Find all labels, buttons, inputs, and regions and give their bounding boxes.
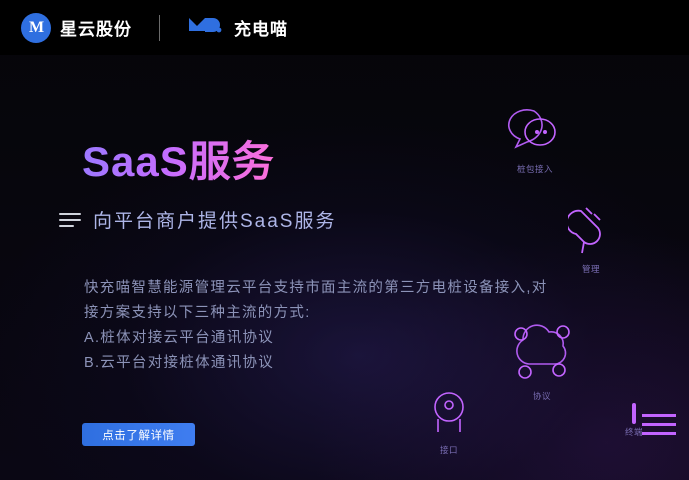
page-title: SaaS服务: [82, 128, 275, 189]
page-root: M 星云股份 充电喵 SaaS服务 向平台商户提供SaaS服务 快充喵智慧能源管…: [0, 0, 689, 480]
device-box-icon: [605, 405, 663, 423]
node-caption: 桩包接入: [497, 163, 573, 175]
brand-divider: [159, 15, 160, 41]
company-logo-icon: M: [21, 13, 51, 43]
top-bar: M 星云股份 充电喵: [0, 0, 689, 55]
node-caption: 管理: [558, 263, 624, 275]
chat-bubbles-icon: [497, 103, 573, 160]
hamburger-menu-icon[interactable]: [59, 213, 81, 227]
power-plug-icon: [558, 205, 624, 260]
company-name-label: 星云股份: [60, 15, 132, 40]
brand-right[interactable]: 充电喵: [186, 12, 288, 43]
socket-icon: [420, 390, 478, 441]
subtitle-row: 向平台商户提供SaaS服务: [59, 206, 336, 233]
body-line: 快充喵智慧能源管理云平台支持市面主流的第三方电桩设备接入,对: [84, 276, 584, 301]
learn-more-button[interactable]: 点击了解详情: [82, 423, 195, 446]
node-caption: 协议: [502, 390, 582, 402]
cloud-circuit-icon: [502, 320, 582, 387]
node-plug: 管理: [558, 205, 624, 275]
node-device: 终端: [605, 405, 663, 438]
node-caption: 终端: [605, 426, 663, 438]
product-name-label: 充电喵: [234, 15, 288, 40]
brand-left[interactable]: M 星云股份: [21, 13, 132, 43]
node-cloud: 协议: [502, 320, 582, 402]
product-logo-icon: [186, 12, 224, 43]
node-socket: 接口: [420, 390, 478, 456]
node-caption: 接口: [420, 444, 478, 456]
node-chat: 桩包接入: [497, 103, 573, 175]
page-subtitle: 向平台商户提供SaaS服务: [93, 206, 336, 233]
